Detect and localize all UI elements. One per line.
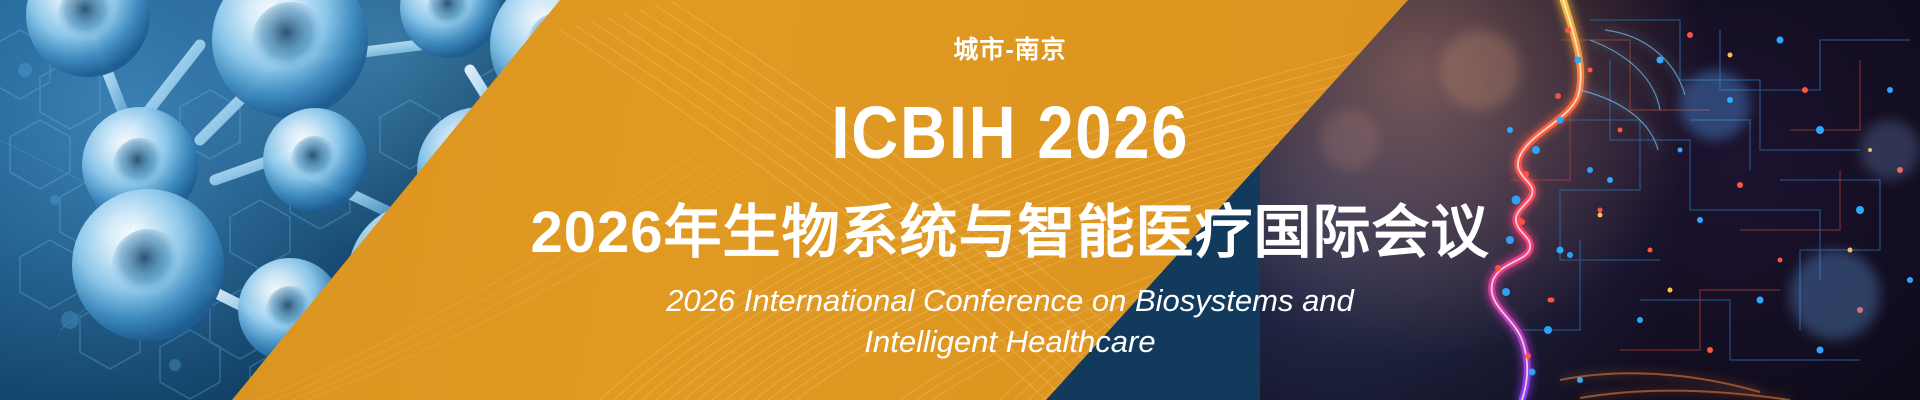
bokeh-light (1320, 110, 1380, 170)
bokeh-light (1440, 30, 1520, 110)
bokeh-light (1790, 250, 1880, 340)
bokeh-light (1680, 70, 1750, 140)
ai-face-circuit-graphic (1260, 0, 1920, 400)
bokeh-light (1860, 120, 1920, 180)
ai-face-profile-icon (1260, 0, 1920, 400)
conference-banner: 城市-南京 ICBIH 2026 2026年生物系统与智能医疗国际会议 2026… (0, 0, 1920, 400)
